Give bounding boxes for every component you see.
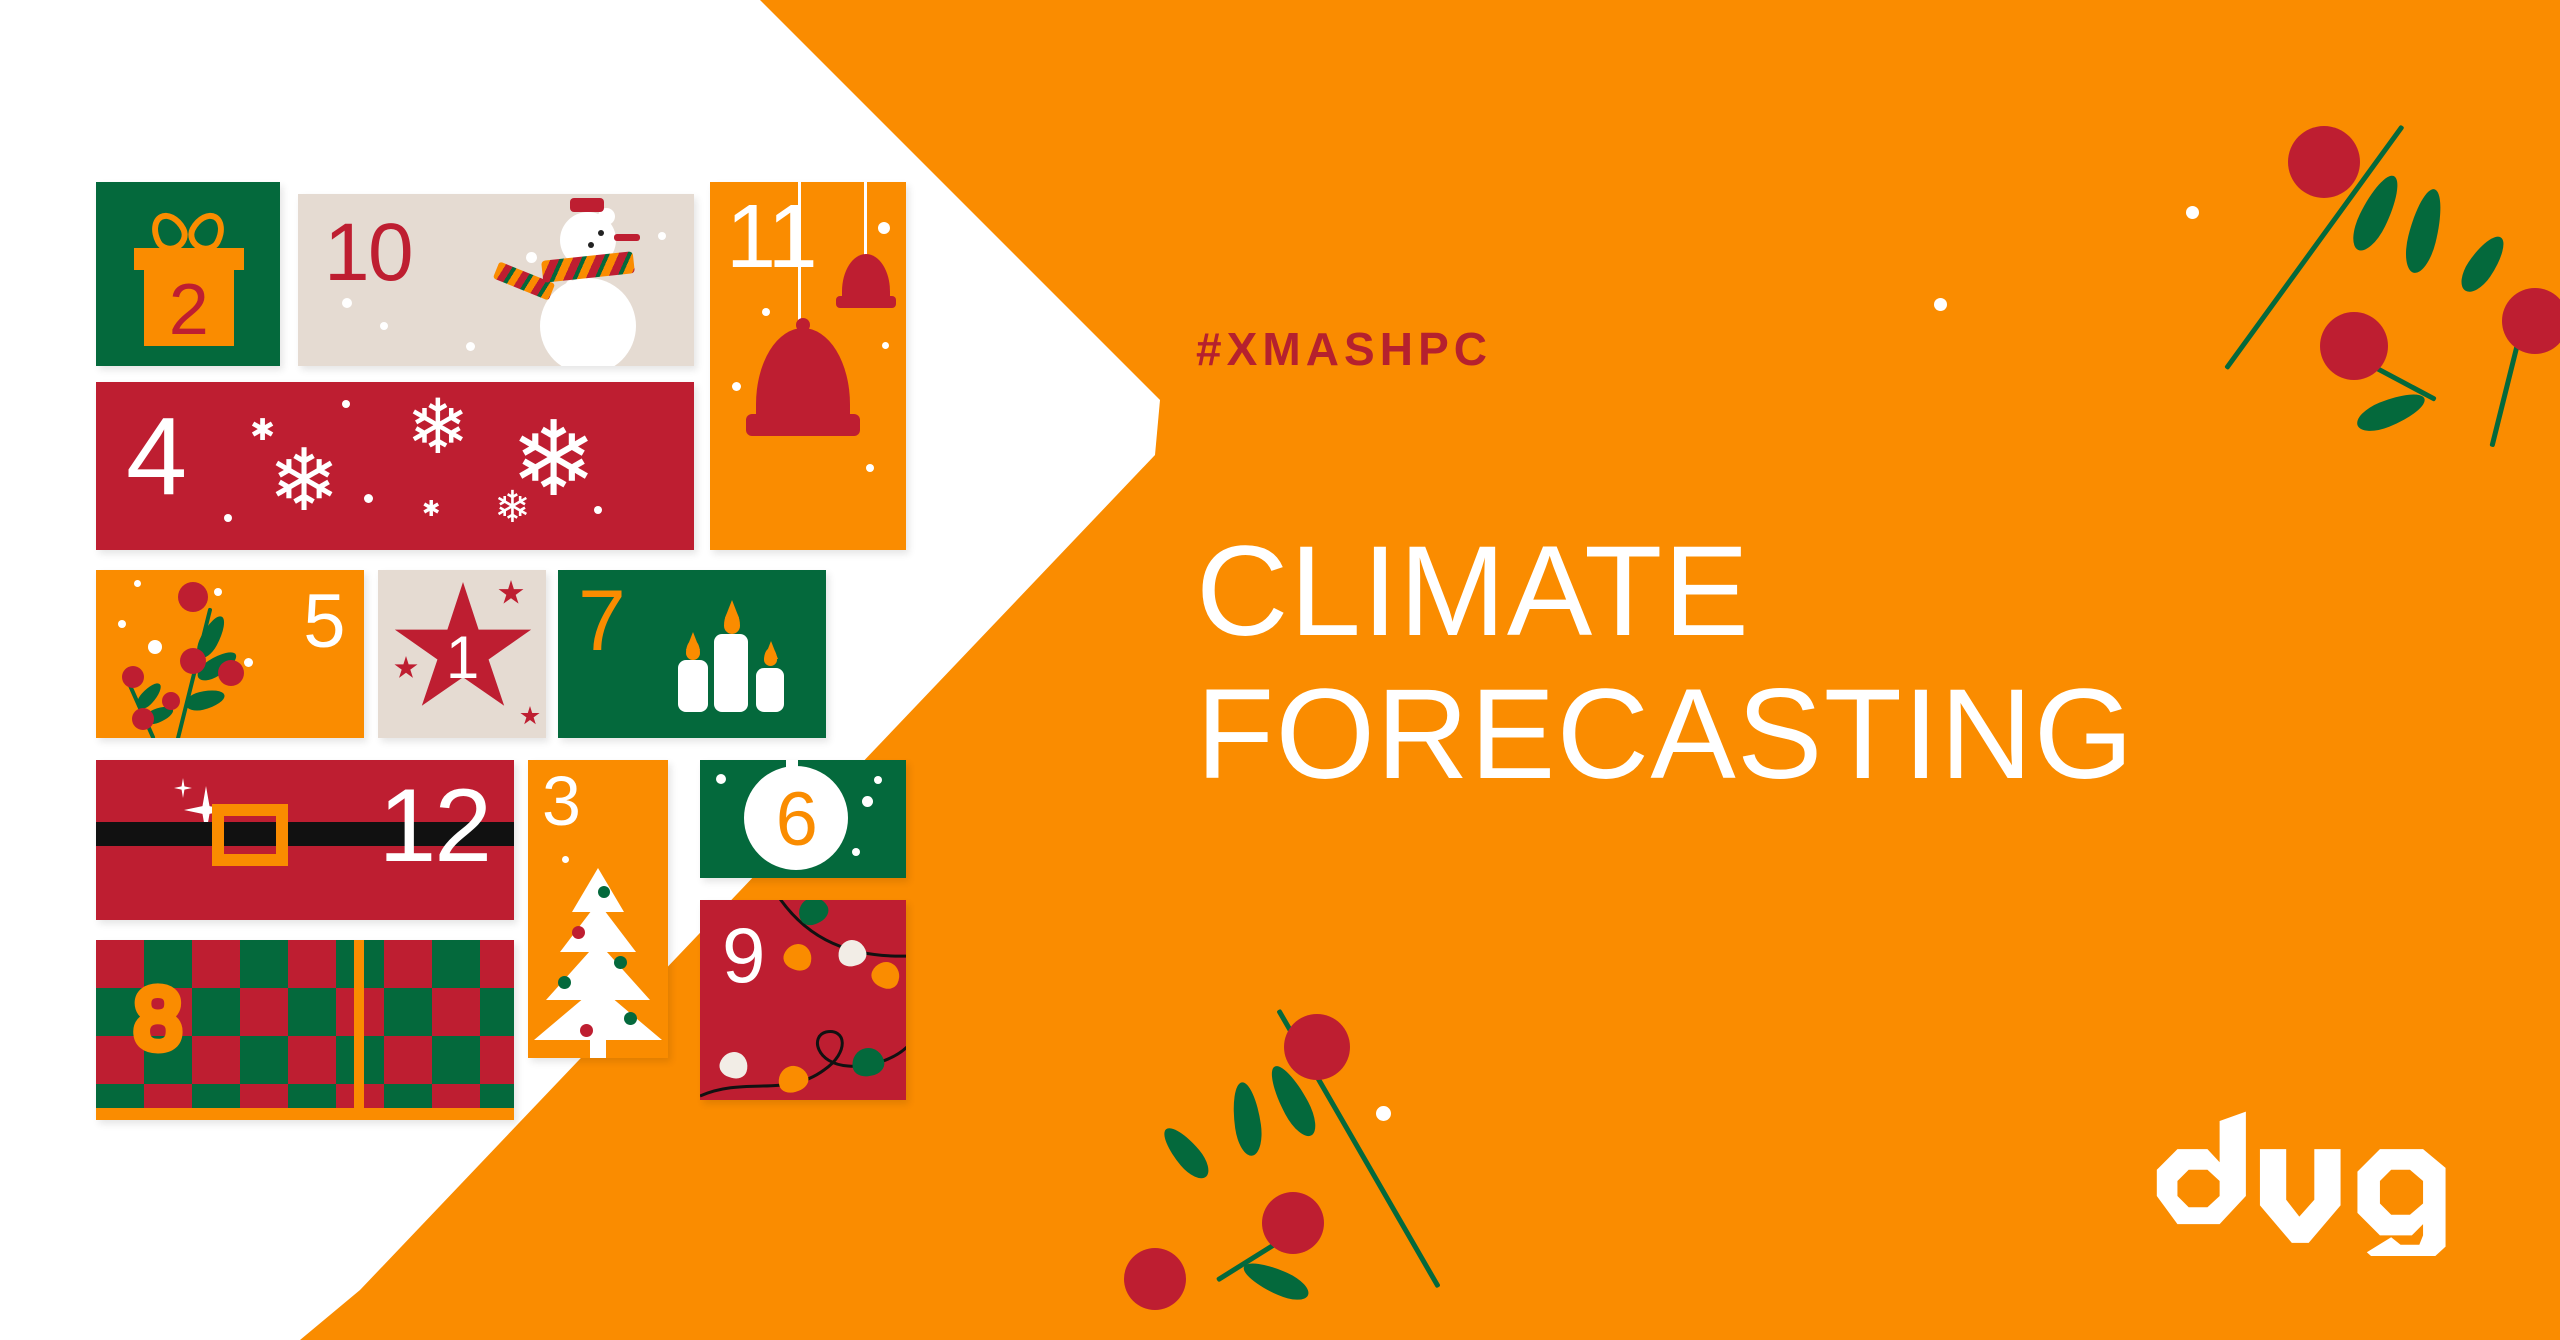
calendar-tile-number: 4 (126, 402, 185, 512)
snow-dot (134, 580, 141, 587)
snow-dot (732, 382, 741, 391)
background-dot (2186, 206, 2199, 219)
argyle-stripe-horizontal (96, 1108, 514, 1120)
calendar-tile-number: 11 (726, 192, 816, 282)
berry-icon (122, 666, 144, 688)
calendar-tile-6[interactable]: 6 (700, 760, 906, 878)
calendar-tile-3[interactable]: 3 (528, 760, 668, 1058)
snow-dot (852, 848, 860, 856)
bell-cord-icon (864, 182, 867, 260)
snow-dot (862, 796, 873, 807)
candle-flame-icon (686, 640, 700, 660)
snow-dot (866, 464, 874, 472)
tree-ornament (624, 1012, 637, 1025)
calendar-tile-number: 5 (303, 584, 344, 660)
leaf-icon (1229, 1081, 1265, 1158)
snow-dot (224, 514, 232, 522)
calendar-tile-1[interactable]: 1 (378, 570, 546, 738)
snowman-eye (588, 242, 594, 248)
calendar-tile-number: 1 (378, 628, 546, 688)
tree-ornament (598, 886, 610, 898)
large-bell-icon (756, 328, 850, 426)
calendar-tile-10[interactable]: 10 (298, 194, 694, 366)
candle-flame-icon (724, 610, 740, 634)
hashtag-label: #XMASHPC (1196, 322, 1492, 376)
snow-dot (526, 252, 537, 263)
calendar-tile-8[interactable]: 8 (96, 940, 514, 1120)
calendar-tile-number: 2 (96, 274, 280, 346)
berry-icon (2320, 312, 2388, 380)
snow-dot (342, 400, 350, 408)
snowflake-icon: ❄ (494, 486, 531, 530)
berry-icon (1124, 1248, 1186, 1310)
page-title-line-2: FORECASTING (1196, 663, 2135, 806)
berry-icon (132, 708, 154, 730)
snow-dot (882, 342, 889, 349)
tree-ornament (558, 976, 571, 989)
calendar-tile-2[interactable]: 2 (96, 182, 280, 366)
sparkle-small-icon (174, 778, 192, 798)
snow-dot (214, 588, 222, 596)
calendar-tile-7[interactable]: 7 (558, 570, 826, 738)
snowflake-icon: ✱ (422, 498, 440, 520)
snow-dot (466, 342, 475, 351)
tree-ornament (614, 956, 627, 969)
calendar-tile-4[interactable]: 4 ✱ ❄ ❄ ❄ ❄ ✱ (96, 382, 694, 550)
leaf-icon (1157, 1122, 1215, 1185)
snowflake-icon: ❄ (268, 438, 340, 524)
calendar-tile-9[interactable]: 9 (700, 900, 906, 1100)
dug-logo (2144, 1106, 2464, 1256)
calendar-tile-number: 7 (578, 578, 624, 664)
snow-dot (148, 640, 162, 654)
calendar-tile-number: 12 (378, 774, 490, 878)
snowman-scarf-icon (541, 251, 635, 282)
sprig-stem (2489, 339, 2520, 447)
calendar-tile-number: 3 (542, 766, 580, 836)
small-star-icon (520, 706, 540, 726)
leaf-icon (2353, 386, 2429, 437)
berry-icon (2502, 288, 2560, 354)
snowflake-icon: ❄ (406, 390, 470, 466)
snowman-body-icon (540, 278, 636, 366)
snow-dot (244, 658, 253, 667)
small-star-icon (498, 580, 524, 606)
berry-icon (180, 648, 206, 674)
background-dot (1934, 298, 1947, 311)
gift-lid-icon (134, 248, 244, 270)
calendar-tile-number: 9 (722, 916, 764, 994)
snow-dot (658, 232, 666, 240)
berry-icon (1262, 1192, 1324, 1254)
candle-icon (714, 634, 748, 712)
snow-dot (762, 308, 770, 316)
leaf-icon (2454, 230, 2511, 298)
candle-icon (756, 668, 784, 712)
calendar-tile-number: 6 (744, 782, 848, 858)
tree-trunk-icon (590, 1036, 606, 1058)
calendar-tile-5[interactable]: 5 (96, 570, 364, 738)
snow-dot (716, 774, 726, 784)
snow-dot (364, 494, 373, 503)
calendar-tile-11[interactable]: 11 (710, 182, 906, 550)
calendar-tile-number: 10 (324, 212, 412, 294)
tree-ornament (572, 926, 585, 939)
argyle-stripe-vertical (354, 940, 364, 1120)
calendar-tile-12[interactable]: 12 (96, 760, 514, 920)
leaf-icon (2345, 170, 2406, 256)
snow-dot (562, 856, 569, 863)
page-title-line-1: CLIMATE (1196, 520, 2135, 663)
decorative-sprig-top-right (2250, 110, 2560, 440)
background-dot (1376, 1106, 1391, 1121)
large-bell-lip (746, 414, 860, 436)
snowman-eye (598, 230, 604, 236)
snowman-hat-icon (570, 198, 604, 212)
belt-buckle-icon (212, 804, 288, 866)
snow-dot (118, 620, 126, 628)
candle-flame-icon (764, 648, 777, 666)
candle-icon (678, 660, 708, 712)
page-title: CLIMATE FORECASTING (1196, 520, 2135, 807)
leaf-icon (1239, 1256, 1313, 1306)
snow-dot (874, 776, 882, 784)
decorative-sprig-bottom-center (1130, 1010, 1430, 1340)
advent-calendar: 2 10 11 4 ✱ ❄ (96, 182, 906, 1162)
calendar-tile-number: 8 (134, 976, 180, 1062)
berry-icon (162, 692, 180, 710)
small-bell-lip (836, 296, 896, 308)
snow-dot (342, 298, 352, 308)
snow-dot (380, 322, 388, 330)
snowman-nose-icon (614, 234, 640, 241)
berry-icon (1284, 1014, 1350, 1080)
leaf-icon (2400, 186, 2448, 276)
berry-icon (178, 582, 208, 612)
berry-icon (2288, 126, 2360, 198)
snow-dot (878, 222, 890, 234)
berry-icon (218, 660, 244, 686)
snow-dot (594, 506, 602, 514)
